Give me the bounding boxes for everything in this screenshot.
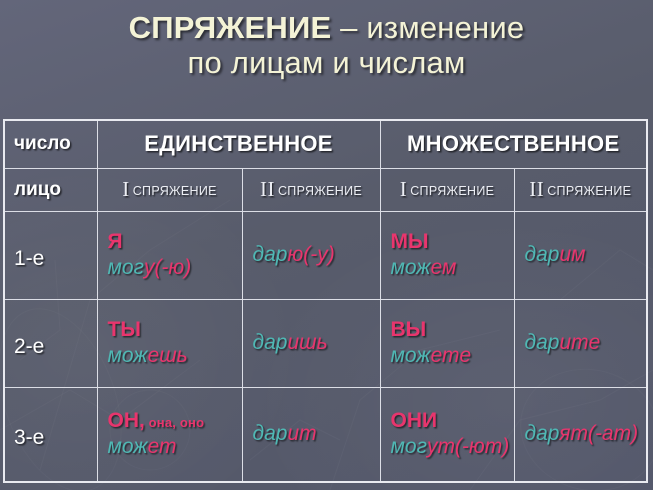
cell-sg2-row2: даришь bbox=[242, 299, 380, 387]
label-singular: ЕДИНСТВЕННОЕ bbox=[98, 131, 380, 157]
verb-ending: ю(-у) bbox=[287, 243, 334, 266]
verb-ending: ем bbox=[431, 256, 457, 279]
cell-person-1: 1-е bbox=[4, 211, 97, 299]
slide-canvas: СПРЯЖЕНИЕ – изменение по лицам и числам … bbox=[0, 0, 653, 490]
header-cell-plural: МНОЖЕСТВЕННОЕ bbox=[380, 120, 647, 168]
verb-form-block: МЫ можем bbox=[381, 226, 514, 284]
verb-ending: ут(-ют) bbox=[427, 435, 509, 458]
conjugation-heading: IIСПРЯЖЕНИЕ bbox=[243, 177, 380, 202]
verb-stem: мож bbox=[108, 344, 148, 367]
person-label: 2-е bbox=[5, 327, 97, 359]
verb-form: дарят(-ат) bbox=[515, 418, 647, 450]
cell-pl2-row3: дарят(-ат) bbox=[514, 387, 647, 482]
label-chislo: число bbox=[5, 133, 97, 155]
verb-stem: дар bbox=[525, 422, 560, 445]
pronoun-main: ОНИ bbox=[391, 409, 438, 432]
pronoun-main: ТЫ bbox=[108, 318, 141, 341]
cell-sg2-row3: дарит bbox=[242, 387, 380, 482]
verb-form: может bbox=[108, 435, 233, 459]
verb-form: дарим bbox=[515, 239, 647, 271]
verb-form: могу(-ю) bbox=[108, 256, 233, 280]
header-cell-conj-sg-1: IСПРЯЖЕНИЕ bbox=[97, 168, 242, 211]
verb-stem: мог bbox=[108, 256, 144, 279]
cell-pl1-row1: МЫ можем bbox=[380, 211, 514, 299]
label-litso: лицо bbox=[5, 179, 97, 201]
cell-sg1-row3: ОН, она, оно может bbox=[97, 387, 242, 482]
header-cell-conj-pl-2: IIСПРЯЖЕНИЕ bbox=[514, 168, 647, 211]
header-cell-conj-pl-1: IСПРЯЖЕНИЕ bbox=[380, 168, 514, 211]
pronoun-extra: она, оно bbox=[145, 415, 204, 430]
conjugation-word: СПРЯЖЕНИЕ bbox=[547, 184, 631, 198]
verb-stem: мож bbox=[391, 344, 431, 367]
cell-sg2-row1: дарю(-у) bbox=[242, 211, 380, 299]
verb-form-block: ВЫ можете bbox=[381, 314, 514, 372]
pronoun: МЫ bbox=[391, 230, 505, 254]
table-row: 3-е ОН, она, оно может дарит ОНИ могут(-… bbox=[4, 387, 647, 482]
cell-pl2-row1: дарим bbox=[514, 211, 647, 299]
table-row: 1-е Я могу(-ю) дарю(-у) МЫ можем bbox=[4, 211, 647, 299]
verb-stem: дар bbox=[525, 331, 560, 354]
verb-ending: ешь bbox=[148, 344, 188, 367]
verb-form: можешь bbox=[108, 344, 233, 368]
verb-ending: ишь bbox=[287, 331, 327, 354]
verb-stem: мож bbox=[108, 435, 148, 458]
conjugation-heading: IСПРЯЖЕНИЕ bbox=[98, 177, 242, 202]
verb-stem: дар bbox=[253, 422, 288, 445]
header-cell-number-label: число bbox=[4, 120, 97, 168]
cell-pl1-row2: ВЫ можете bbox=[380, 299, 514, 387]
conjugation-word: СПРЯЖЕНИЕ bbox=[278, 184, 362, 198]
verb-ending: ите bbox=[559, 331, 600, 354]
verb-form-block: ОН, она, оно может bbox=[98, 405, 242, 463]
verb-stem: дар bbox=[253, 243, 288, 266]
cell-sg1-row2: ТЫ можешь bbox=[97, 299, 242, 387]
pronoun: ТЫ bbox=[108, 318, 233, 342]
verb-form: можете bbox=[391, 344, 505, 368]
cell-sg1-row1: Я могу(-ю) bbox=[97, 211, 242, 299]
pronoun: ОНИ bbox=[391, 409, 505, 433]
title-definition: – изменение bbox=[331, 10, 524, 45]
verb-stem: дар bbox=[253, 331, 288, 354]
table-header-number-row: число ЕДИНСТВЕННОЕ МНОЖЕСТВЕННОЕ bbox=[4, 120, 647, 168]
person-label: 3-е bbox=[5, 418, 97, 450]
verb-form-block: Я могу(-ю) bbox=[98, 226, 242, 284]
verb-ending: ете bbox=[431, 344, 472, 367]
conjugation-word: СПРЯЖЕНИЕ bbox=[133, 184, 217, 198]
header-cell-conj-sg-2: IIСПРЯЖЕНИЕ bbox=[242, 168, 380, 211]
verb-ending: им bbox=[559, 243, 585, 266]
verb-form-block: ТЫ можешь bbox=[98, 314, 242, 372]
verb-stem: мог bbox=[391, 435, 427, 458]
pronoun: ОН, она, оно bbox=[108, 409, 233, 433]
verb-ending: у(-ю) bbox=[144, 256, 191, 279]
verb-form: дарите bbox=[515, 327, 647, 359]
verb-stem: мож bbox=[391, 256, 431, 279]
verb-stem: дар bbox=[525, 243, 560, 266]
roman-numeral: I bbox=[122, 177, 130, 201]
conjugation-heading: IСПРЯЖЕНИЕ bbox=[381, 177, 514, 202]
verb-form-block: ОНИ могут(-ют) bbox=[381, 405, 514, 463]
roman-numeral: II bbox=[529, 177, 544, 201]
verb-form: даришь bbox=[243, 327, 380, 359]
cell-pl1-row3: ОНИ могут(-ют) bbox=[380, 387, 514, 482]
conjugation-word: СПРЯЖЕНИЕ bbox=[410, 184, 494, 198]
cell-pl2-row2: дарите bbox=[514, 299, 647, 387]
cell-person-3: 3-е bbox=[4, 387, 97, 482]
page-title: СПРЯЖЕНИЕ – изменение по лицам и числам bbox=[0, 10, 653, 80]
verb-form: дарит bbox=[243, 418, 380, 450]
label-plural: МНОЖЕСТВЕННОЕ bbox=[381, 131, 647, 157]
conjugation-heading: IIСПРЯЖЕНИЕ bbox=[515, 177, 647, 202]
title-line-two: по лицам и числам bbox=[0, 45, 653, 80]
roman-numeral: I bbox=[400, 177, 408, 201]
verb-ending: ят(-ат) bbox=[559, 422, 638, 445]
verb-ending: ит bbox=[287, 422, 316, 445]
pronoun-main: Я bbox=[108, 230, 123, 253]
pronoun-main: ОН, bbox=[108, 409, 145, 432]
table-row: 2-е ТЫ можешь даришь ВЫ можете bbox=[4, 299, 647, 387]
pronoun: ВЫ bbox=[391, 318, 505, 342]
table-header-person-row: лицо IСПРЯЖЕНИЕ IIСПРЯЖЕНИЕ IСПРЯЖЕНИЕ I… bbox=[4, 168, 647, 211]
conjugation-table: число ЕДИНСТВЕННОЕ МНОЖЕСТВЕННОЕ лицо IС… bbox=[3, 119, 648, 483]
verb-form: могут(-ют) bbox=[391, 435, 505, 459]
header-cell-singular: ЕДИНСТВЕННОЕ bbox=[97, 120, 380, 168]
verb-form: дарю(-у) bbox=[243, 239, 380, 271]
verb-form: можем bbox=[391, 256, 505, 280]
pronoun: Я bbox=[108, 230, 233, 254]
verb-ending: ет bbox=[148, 435, 177, 458]
person-label: 1-е bbox=[5, 239, 97, 271]
header-cell-person-label: лицо bbox=[4, 168, 97, 211]
pronoun-main: МЫ bbox=[391, 230, 429, 253]
roman-numeral: II bbox=[260, 177, 275, 201]
pronoun-main: ВЫ bbox=[391, 318, 427, 341]
cell-person-2: 2-е bbox=[4, 299, 97, 387]
title-keyword: СПРЯЖЕНИЕ bbox=[129, 10, 332, 45]
